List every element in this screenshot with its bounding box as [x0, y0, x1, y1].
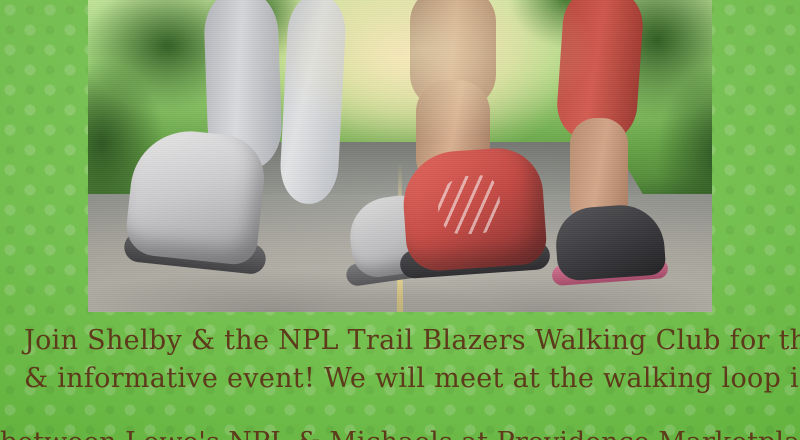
poster-canvas: Join Shelby & the NPL Trail Blazers Walk… — [0, 0, 800, 440]
walkers-photo — [88, 0, 712, 312]
caption-line-3: between Lowe's NPL & Michaels at Provide… — [0, 424, 800, 440]
event-caption-clipped: between Lowe's NPL & Michaels at Provide… — [0, 424, 800, 440]
event-caption: Join Shelby & the NPL Trail Blazers Walk… — [0, 322, 800, 398]
caption-line-1: Join Shelby & the NPL Trail Blazers Walk… — [24, 322, 776, 360]
left-walker-far-leg — [279, 0, 348, 205]
caption-line-2: & informative event! We will meet at the… — [24, 360, 776, 398]
